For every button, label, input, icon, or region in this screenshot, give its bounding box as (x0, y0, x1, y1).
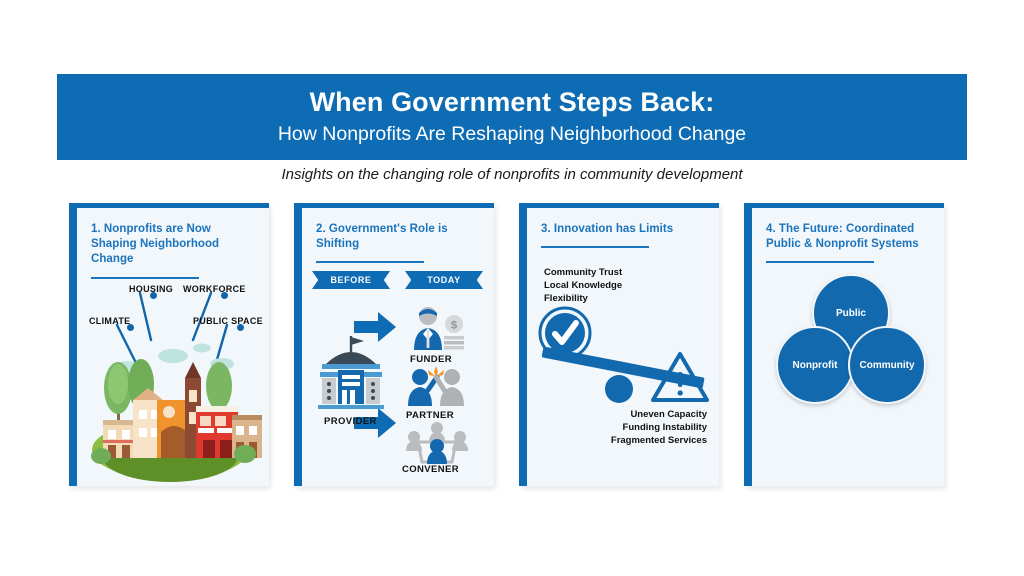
risk-item: Uneven Capacity (611, 408, 707, 421)
ribbon-today: TODAY (405, 271, 483, 289)
panel-2-inner: 2. Government's Role is Shifting BEFORE … (302, 208, 494, 486)
panel-3-rule (541, 246, 649, 248)
risk-item: Funding Instability (611, 421, 707, 434)
pin-label-climate: CLIMATE (89, 316, 130, 326)
panel-4-title: 4. The Future: Coordinated Public & Nonp… (766, 222, 932, 252)
page-title: When Government Steps Back: (310, 88, 715, 118)
partner-highfive-icon (404, 366, 468, 406)
pin-label-public-space: PUBLIC SPACE (193, 316, 263, 326)
header-banner: When Government Steps Back: How Nonprofi… (57, 74, 967, 160)
strengths-list: Community Trust Local Knowledge Flexibil… (544, 266, 622, 305)
panel-3-title: 3. Innovation has Limits (541, 222, 707, 237)
funder-person-money-icon: $ (406, 306, 466, 350)
risk-item: Fragmented Services (611, 434, 707, 447)
risks-list: Uneven Capacity Funding Instability Frag… (611, 408, 707, 447)
panel-nonprofits-shaping: 1. Nonprofits are Now Shaping Neighborho… (69, 203, 269, 486)
panel-2-title: 2. Government's Role is Shifting (316, 222, 482, 252)
tagline: Insights on the changing role of nonprof… (0, 166, 1024, 183)
venn-diagram: Public Nonprofit Community (752, 274, 944, 474)
venn-circle-community: Community (848, 326, 926, 404)
panel-innovation-limits: 3. Innovation has Limits Community Trust… (519, 203, 719, 486)
role-label-funder: FUNDER (410, 354, 452, 365)
convener-roundtable-icon (406, 422, 468, 464)
panel-1-inner: 1. Nonprofits are Now Shaping Neighborho… (77, 208, 269, 486)
pin-dot-climate (127, 324, 134, 331)
panel-government-role: 2. Government's Role is Shifting BEFORE … (294, 203, 494, 486)
government-building-icon (314, 334, 388, 412)
panel-4-inner: 4. The Future: Coordinated Public & Nonp… (752, 208, 944, 486)
svg-text:$: $ (451, 320, 457, 332)
role-label-provider: PROVIDER (324, 416, 377, 427)
check-circle-icon (540, 308, 590, 358)
strength-item: Flexibility (544, 292, 622, 305)
panel-2-rule (316, 261, 424, 263)
ribbon-before: BEFORE (312, 271, 390, 289)
bush-left (91, 448, 111, 464)
spark-icon (428, 366, 444, 376)
panel-future-coordinated: 4. The Future: Coordinated Public & Nonp… (744, 203, 944, 486)
pin-dot-housing (150, 292, 157, 299)
pin-dot-workforce (221, 292, 228, 299)
pin-label-workforce: WORKFORCE (183, 284, 246, 294)
venn-circle-nonprofit: Nonprofit (776, 326, 854, 404)
building-orange-civic (157, 362, 201, 458)
building-red (196, 406, 238, 458)
panel-4-rule (766, 261, 874, 263)
role-label-convener: CONVENER (402, 464, 459, 475)
tree-left-icon (104, 362, 132, 428)
panel-3-inner: 3. Innovation has Limits Community Trust… (527, 208, 719, 486)
role-label-partner: PARTNER (406, 410, 454, 421)
scale-fulcrum (605, 375, 633, 403)
pin-dot-public-space (237, 324, 244, 331)
strength-item: Community Trust (544, 266, 622, 279)
infographic-canvas: When Government Steps Back: How Nonprofi… (0, 0, 1024, 576)
page-subtitle: How Nonprofits Are Reshaping Neighborhoo… (278, 124, 746, 145)
bush-right (234, 445, 256, 463)
strength-item: Local Knowledge (544, 279, 622, 292)
